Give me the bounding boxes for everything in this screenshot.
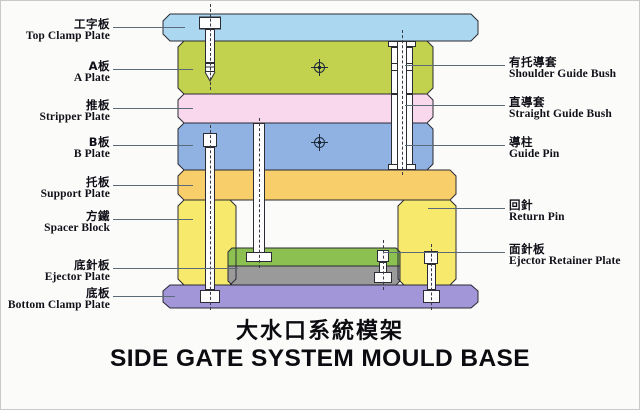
label-b-plate: B板 B Plate: [0, 137, 110, 161]
leader-guide-pin: [405, 145, 505, 146]
leader-a-plate: [113, 69, 193, 70]
leader-support-plate: [113, 185, 193, 186]
label-ejector-plate-en: Ejector Plate: [0, 272, 110, 284]
label-straight-guide-bush: 直導套 Straight Guide Bush: [509, 97, 640, 121]
label-top-clamp-plate-en: Top Clamp Plate: [0, 31, 110, 43]
support-plate: [178, 170, 456, 200]
label-bottom-clamp-plate-en: Bottom Clamp Plate: [0, 300, 110, 312]
label-stripper-plate-en: Stripper Plate: [0, 112, 110, 124]
label-a-plate-en: A Plate: [0, 73, 110, 85]
centre-sleeve-centerline: [259, 118, 260, 268]
label-shoulder-guide-bush: 有托導套 Shoulder Guide Bush: [509, 57, 640, 81]
crosshair-marker-a-plate: [311, 59, 328, 76]
cap-screw-centerline: [210, 4, 211, 90]
label-spacer-block: 方鐵 Spacer Block: [0, 211, 110, 235]
label-stripper-plate: 推板 Stripper Plate: [0, 100, 110, 124]
leader-ejector-plate: [113, 268, 238, 269]
diagram-canvas: 工字板 Top Clamp Plate A板 A Plate 推板 Stripp…: [0, 0, 640, 410]
label-shoulder-guide-bush-en: Shoulder Guide Bush: [509, 69, 640, 81]
leader-ejector-retainer-plate: [383, 252, 505, 253]
label-bottom-clamp-plate: 底板 Bottom Clamp Plate: [0, 288, 110, 312]
leader-bottom-clamp-plate: [113, 296, 175, 297]
label-support-plate: 托板 Support Plate: [0, 177, 110, 201]
leader-stripper-plate: [113, 108, 193, 109]
ejector-pin-centerline: [210, 125, 211, 310]
leader-spacer-block: [113, 219, 193, 220]
label-ejector-retainer-plate-en: Ejector Retainer Plate: [509, 256, 640, 268]
label-straight-guide-bush-en: Straight Guide Bush: [509, 109, 640, 121]
leader-top-clamp-plate: [113, 27, 185, 28]
guide-pin-centerline: [402, 30, 403, 175]
label-ejector-plate: 底針板 Ejector Plate: [0, 260, 110, 284]
crosshair-marker-b-plate: [311, 134, 328, 151]
leader-b-plate: [113, 145, 193, 146]
label-support-plate-en: Support Plate: [0, 189, 110, 201]
label-top-clamp-plate: 工字板 Top Clamp Plate: [0, 19, 110, 43]
label-a-plate: A板 A Plate: [0, 61, 110, 85]
title-english: SIDE GATE SYSTEM MOULD BASE: [0, 345, 640, 373]
leader-return-pin: [428, 208, 505, 209]
leader-straight-guide-bush: [405, 105, 505, 106]
label-return-pin-en: Return Pin: [509, 212, 640, 224]
return-pin-centerline: [431, 244, 432, 310]
label-guide-pin-en: Guide Pin: [509, 149, 640, 161]
label-guide-pin: 導柱 Guide Pin: [509, 137, 640, 161]
label-b-plate-en: B Plate: [0, 149, 110, 161]
title-chinese: 大水口系統模架: [0, 313, 640, 345]
label-ejector-retainer-plate: 面針板 Ejector Retainer Plate: [509, 244, 640, 268]
label-return-pin: 回針 Return Pin: [509, 200, 640, 224]
retainer-pin-centerline: [383, 240, 384, 290]
leader-shoulder-guide-bush: [405, 65, 505, 66]
label-spacer-block-en: Spacer Block: [0, 223, 110, 235]
